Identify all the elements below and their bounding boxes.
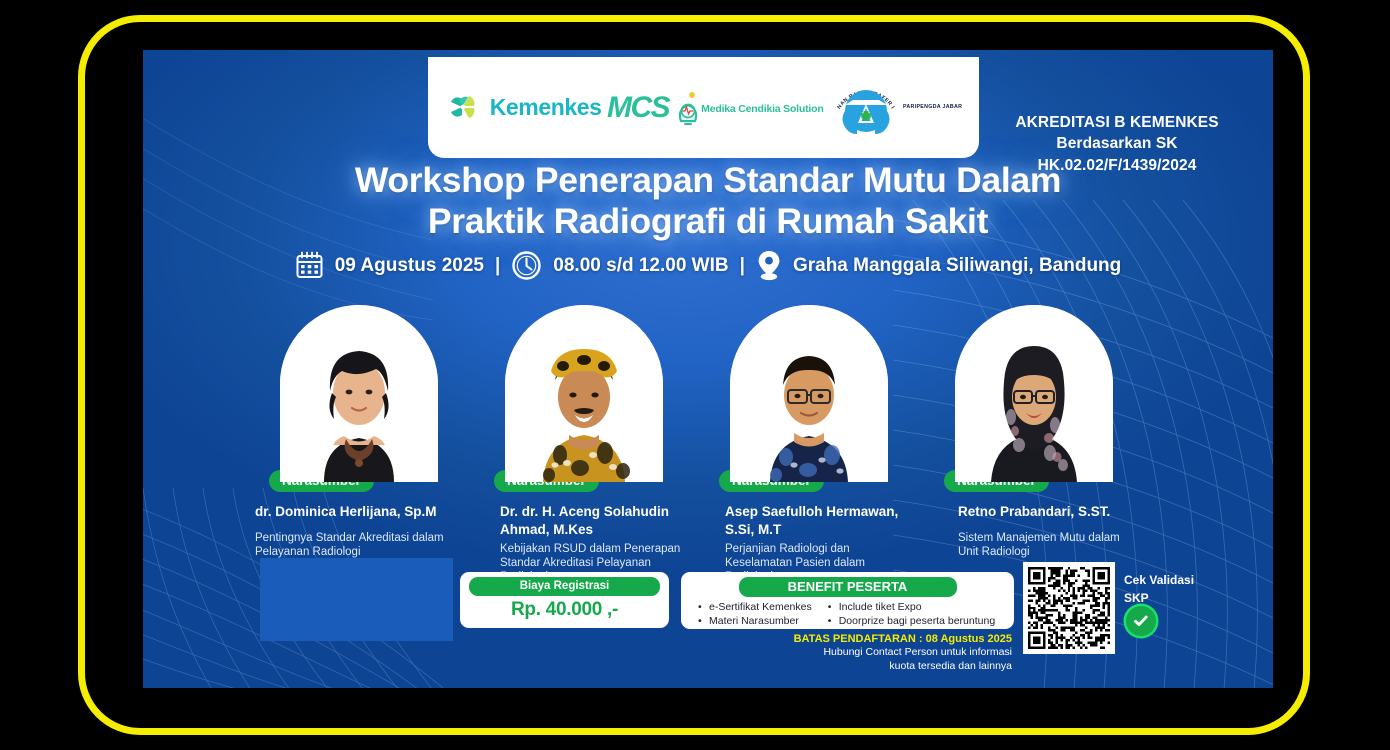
info-separator-1: | <box>495 255 500 277</box>
event-time: 08.00 s/d 12.00 WIB <box>553 255 728 277</box>
kemenkes-wordmark: Kemenkes <box>490 94 602 121</box>
mcs-logo: MCS Medika Cendikia Solution <box>607 91 824 125</box>
event-poster: Kemenkes MCS Medika Cendikia Solution <box>143 50 1273 688</box>
info-separator-2: | <box>740 255 745 277</box>
speaker-photo <box>505 305 663 482</box>
partner-logo-card: Kemenkes MCS Medika Cendikia Solution <box>428 57 979 158</box>
speaker-portrait-3 <box>730 305 888 482</box>
location-pin-icon <box>756 250 782 281</box>
speaker-portrait-4 <box>955 305 1113 482</box>
calendar-icon <box>295 251 324 280</box>
speaker-name: Asep Saefulloh Hermawan, S.Si, M.T <box>725 503 916 538</box>
speaker-photo <box>955 305 1113 482</box>
speaker-card: Narasumber dr. Dominica Herlijana, Sp.M … <box>251 305 466 559</box>
benefit-column-right: Include tiket Expo Doorprize bagi pesert… <box>828 600 995 628</box>
speaker-card: Narasumber Retno Prabandari, S.ST. Siste… <box>926 305 1141 559</box>
speaker-name: Dr. dr. H. Aceng Solahudin Ahmad, M.Kes <box>500 503 691 538</box>
accreditation-block: AKREDITASI B KEMENKES Berdasarkan SK HK.… <box>987 112 1247 176</box>
qr-code-card[interactable] <box>1023 562 1115 654</box>
speaker-name: Retno Prabandari, S.ST. <box>958 503 1141 521</box>
event-info-bar: 09 Agustus 2025 | 08.00 s/d 12.00 WIB | … <box>143 250 1273 281</box>
mcs-letters: MCS <box>607 93 669 123</box>
registration-fee-card: Biaya Registrasi Rp. 40.000 ,- <box>460 572 669 628</box>
deadline-sub-line2: kuota tersedia dan lainnya <box>681 660 1012 673</box>
qr-code-image <box>1028 567 1110 649</box>
mcs-bulb-icon <box>671 91 701 125</box>
accreditation-line-1: AKREDITASI B KEMENKES <box>987 112 1247 133</box>
fee-label: Biaya Registrasi <box>469 577 660 596</box>
speaker-card: Narasumber Dr. dr. H. Aceng Solahudin Ah… <box>476 305 691 584</box>
accreditation-line-3: HK.02.02/F/1439/2024 <box>987 155 1247 176</box>
registration-deadline: BATAS PENDAFTARAN : 08 Agustus 2025 Hubu… <box>681 633 1014 673</box>
mcs-subtitle: Medika Cendikia Solution <box>701 104 823 115</box>
benefit-item: e-Sertifikat Kemenkes <box>698 600 812 614</box>
speaker-portrait-2 <box>505 305 663 482</box>
title-line-2: Praktik Radiografi di Rumah Sakit <box>143 201 1273 242</box>
clock-icon <box>511 250 542 281</box>
qr-label-line2: SKP <box>1124 589 1194 607</box>
check-circle-icon <box>1126 606 1156 636</box>
speaker-topic: Pentingnya Standar Akreditasi dalam Pela… <box>255 531 466 559</box>
speaker-portrait-1 <box>280 305 438 482</box>
kemenkes-logo: Kemenkes <box>445 90 602 126</box>
fee-amount: Rp. 40.000 ,- <box>469 599 660 621</box>
benefit-column-left: e-Sertifikat Kemenkes Materi Narasumber <box>698 600 812 628</box>
kemenkes-mark-icon <box>445 90 481 126</box>
deadline-sub-line1: Hubungi Contact Person untuk informasi <box>681 646 1012 659</box>
qr-label-line1: Cek Validasi <box>1124 571 1194 589</box>
speaker-photo <box>730 305 888 482</box>
pari-emblem-icon: PERHIMPUNAN RADIOGRAFER INDONESIA <box>829 71 903 145</box>
speaker-card: Narasumber Asep Saefulloh Hermawan, S.Si… <box>701 305 916 584</box>
speaker-photo <box>280 305 438 482</box>
speaker-topic: Sistem Manajemen Mutu dalam Unit Radiolo… <box>958 531 1141 559</box>
benefit-title: BENEFIT PESERTA <box>739 577 957 597</box>
pari-caption-line2: PENGDA JABAR <box>916 104 962 111</box>
event-date: 09 Agustus 2025 <box>335 255 484 277</box>
qr-label: Cek Validasi SKP <box>1124 571 1194 607</box>
speakers-section: Narasumber dr. Dominica Herlijana, Sp.M … <box>143 305 1273 605</box>
event-venue: Graha Manggala Siliwangi, Bandung <box>793 255 1121 277</box>
benefit-item: Doorprize bagi peserta beruntung <box>828 614 995 628</box>
benefit-item: Materi Narasumber <box>698 614 812 628</box>
accreditation-line-2: Berdasarkan SK <box>987 133 1247 154</box>
benefit-card: BENEFIT PESERTA e-Sertifikat Kemenkes Ma… <box>681 572 1014 629</box>
pari-logo: PERHIMPUNAN RADIOGRAFER INDONESIA PARI P… <box>829 71 962 145</box>
pari-caption-line1: PARI <box>903 104 916 111</box>
deadline-main: BATAS PENDAFTARAN : 08 Agustus 2025 <box>681 633 1012 645</box>
speaker-name: dr. Dominica Herlijana, Sp.M <box>255 503 466 521</box>
screenshot-backdrop: Kemenkes MCS Medika Cendikia Solution <box>0 0 1390 750</box>
benefit-item: Include tiket Expo <box>828 600 995 614</box>
